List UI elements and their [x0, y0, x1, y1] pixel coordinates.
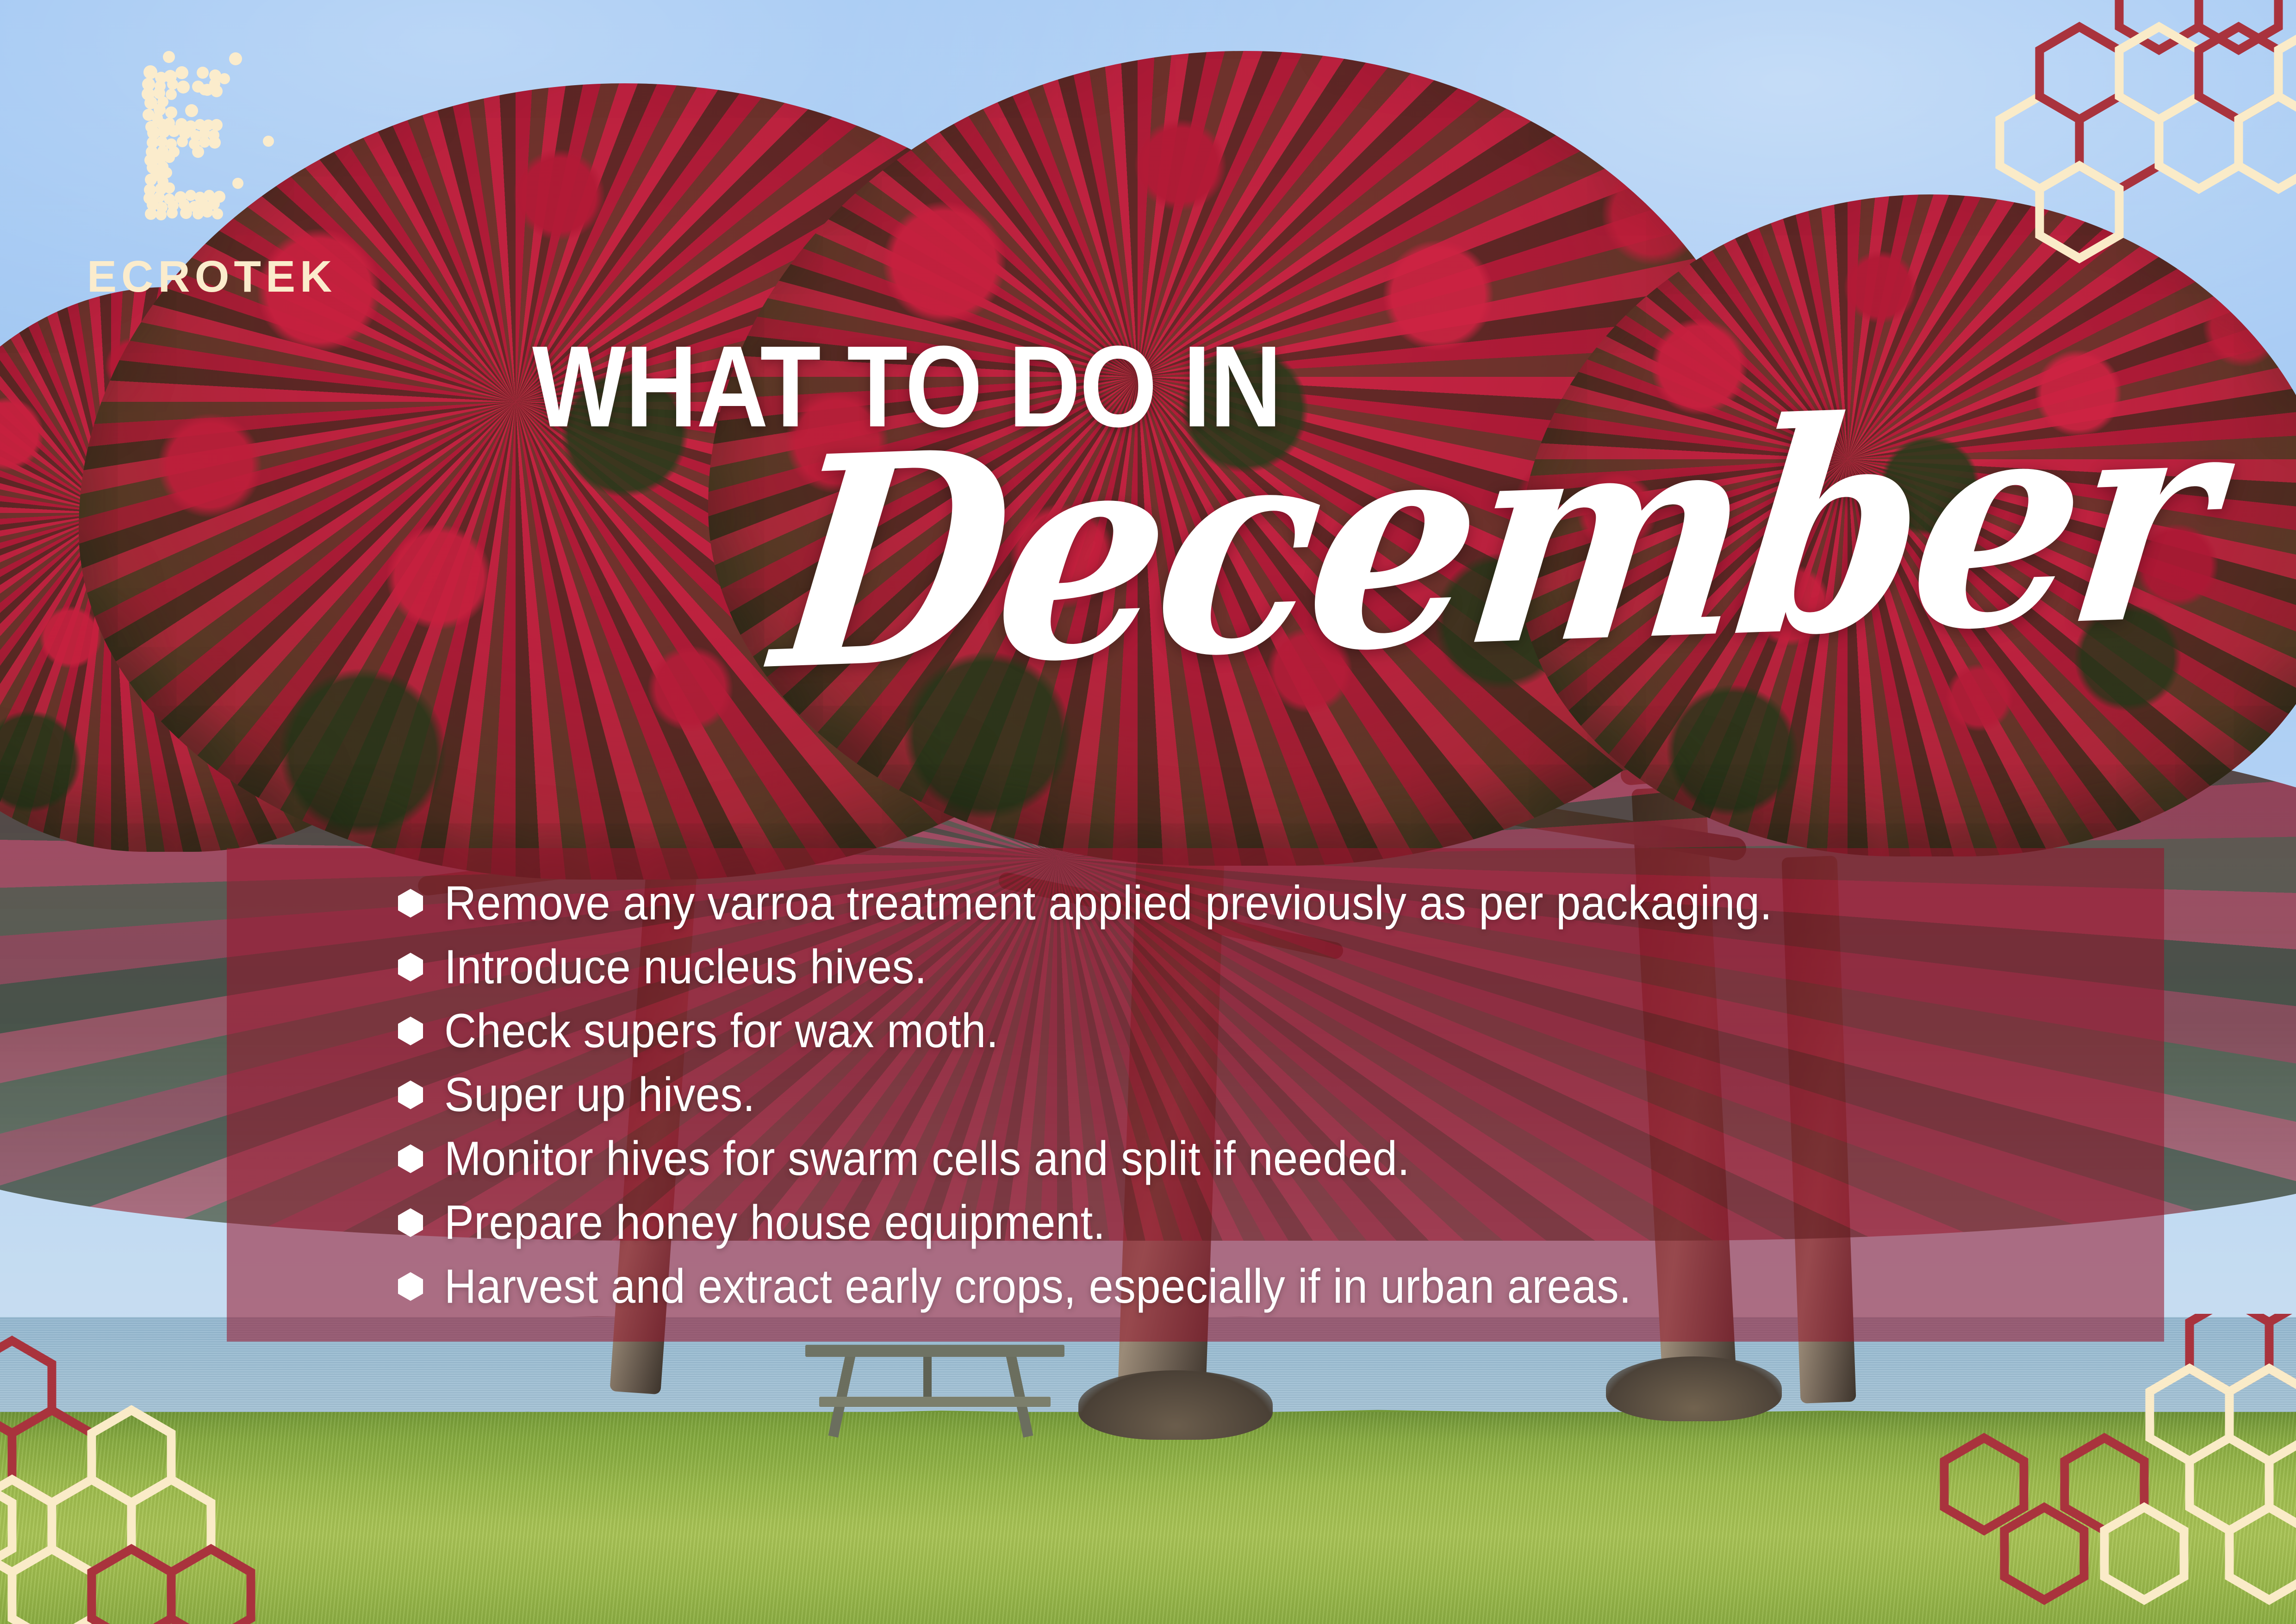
list-item-label: Remove any varroa treatment applied prev…	[444, 879, 1772, 928]
tree-base	[1078, 1370, 1273, 1440]
hexagon-bullet-icon	[398, 1144, 423, 1173]
hexagon-bullet-icon	[398, 1208, 423, 1237]
hexagon-bullet-icon	[398, 889, 423, 918]
list-item-label: Introduce nucleus hives.	[444, 943, 927, 992]
picnic-table	[805, 1345, 1064, 1437]
grass-lawn	[0, 1412, 2296, 1624]
list-item: Introduce nucleus hives.	[398, 935, 2146, 999]
hexagon-bullet-icon	[398, 1081, 423, 1109]
hexagon-bullet-icon	[398, 953, 423, 981]
list-item: Remove any varroa treatment applied prev…	[398, 871, 2146, 935]
list-item: Check supers for wax moth.	[398, 999, 2146, 1063]
list-item: Prepare honey house equipment.	[398, 1191, 2146, 1255]
list-item-label: Super up hives.	[444, 1070, 755, 1119]
task-list-panel: Remove any varroa treatment applied prev…	[227, 848, 2164, 1342]
tree-base	[1606, 1356, 1782, 1421]
list-item: Monitor hives for swarm cells and split …	[398, 1127, 2146, 1191]
list-item-label: Prepare honey house equipment.	[444, 1198, 1106, 1247]
list-item: Super up hives.	[398, 1063, 2146, 1127]
task-list: Remove any varroa treatment applied prev…	[398, 871, 2146, 1318]
list-item-label: Monitor hives for swarm cells and split …	[444, 1134, 1410, 1183]
page-title-month: December	[764, 370, 2224, 710]
dotted-e-monogram-icon	[83, 32, 301, 250]
poster-canvas: ECROTEK WHAT TO DO IN December Remove an…	[0, 0, 2296, 1624]
ecrotek-logo[interactable]: ECROTEK	[83, 32, 398, 310]
list-item-label: Harvest and extract early crops, especia…	[444, 1262, 1631, 1311]
list-item-label: Check supers for wax moth.	[444, 1006, 999, 1056]
hexagon-bullet-icon	[398, 1272, 423, 1301]
hexagon-bullet-icon	[398, 1017, 423, 1045]
list-item: Harvest and extract early crops, especia…	[398, 1255, 2146, 1318]
ecrotek-wordmark: ECROTEK	[87, 255, 336, 299]
